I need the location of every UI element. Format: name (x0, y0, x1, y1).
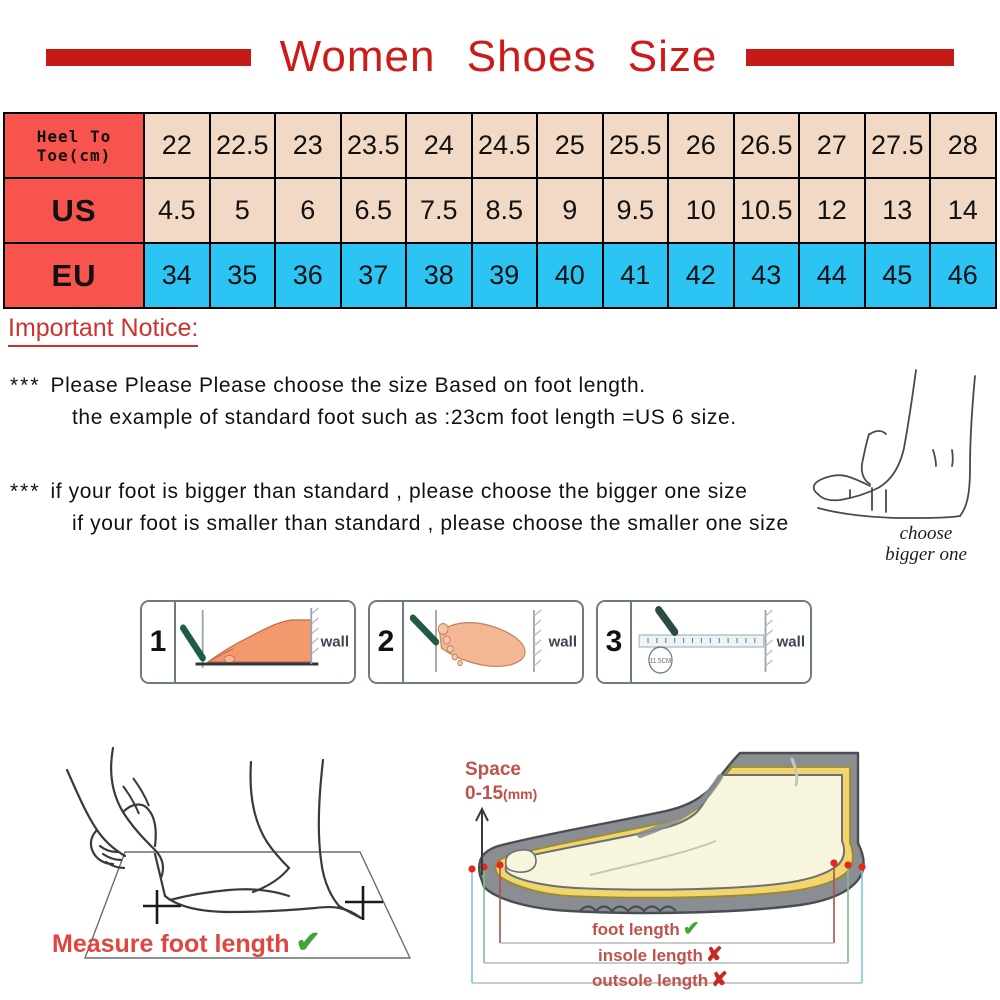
title-rule-left (46, 49, 251, 66)
foot-length-check-icon: ✔ (683, 918, 700, 940)
cell-us-1: 5 (210, 178, 276, 243)
space-label: Space 0-15(mm) (465, 758, 537, 806)
cell-us-12: 14 (930, 178, 996, 243)
size-conversion-table: Heel To Toe(cm) 22 22.5 23 23.5 24 24.5 … (3, 112, 997, 309)
cell-eu-7: 41 (603, 243, 669, 308)
space-value: 0-15 (465, 783, 503, 804)
cell-cm-3: 23.5 (341, 113, 407, 178)
step-3-ruler-badge: 11.5CM (650, 658, 671, 665)
cell-eu-5: 39 (472, 243, 538, 308)
table-row-heel-to-toe: Heel To Toe(cm) 22 22.5 23 23.5 24 24.5 … (4, 113, 996, 178)
cell-cm-1: 22.5 (210, 113, 276, 178)
cell-us-5: 8.5 (472, 178, 538, 243)
cell-cm-5: 24.5 (472, 113, 538, 178)
cell-cm-0: 22 (144, 113, 210, 178)
cell-eu-4: 38 (406, 243, 472, 308)
cell-eu-11: 45 (865, 243, 931, 308)
space-label-line-2: 0-15(mm) (465, 782, 537, 806)
notice-text-2a: if your foot is bigger than standard , p… (51, 480, 748, 503)
page-title-bar: Women Shoes Size (0, 26, 1000, 88)
cell-eu-12: 46 (930, 243, 996, 308)
cell-eu-0: 34 (144, 243, 210, 308)
notice-block-2-line-1: ***if your foot is bigger than standard … (10, 476, 789, 508)
step-1-number: 1 (142, 602, 176, 682)
length-label-insole-text: insole length (598, 946, 703, 965)
length-label-foot-text: foot length (592, 920, 680, 939)
step-2-number: 2 (370, 602, 404, 682)
title-rule-right (746, 49, 954, 66)
cell-us-8: 10 (668, 178, 734, 243)
table-row-us: US 4.5 5 6 6.5 7.5 8.5 9 9.5 10 10.5 12 … (4, 178, 996, 243)
cell-us-9: 10.5 (734, 178, 800, 243)
cell-cm-7: 25.5 (603, 113, 669, 178)
table-row-eu: EU 34 35 36 37 38 39 40 41 42 43 44 45 4… (4, 243, 996, 308)
cell-cm-8: 26 (668, 113, 734, 178)
cell-us-6: 9 (537, 178, 603, 243)
measurement-steps: 1 wall (140, 600, 812, 684)
step-2-illustration: wall (404, 602, 582, 682)
length-label-outsole: outsole length✘ (592, 968, 728, 994)
cell-cm-9: 26.5 (734, 113, 800, 178)
cell-eu-9: 43 (734, 243, 800, 308)
foot-sketch-caption-line-2: bigger one (846, 544, 1000, 565)
cell-us-3: 6.5 (341, 178, 407, 243)
cell-cm-11: 27.5 (865, 113, 931, 178)
cell-us-0: 4.5 (144, 178, 210, 243)
foot-sketch-caption: choose bigger one (846, 523, 1000, 566)
cell-cm-12: 28 (930, 113, 996, 178)
step-2: 2 wall (368, 600, 584, 684)
notice-block-1-line-1: ***Please Please Please choose the size … (10, 370, 737, 402)
step-2-wall-label: wall (549, 634, 577, 651)
measure-check-icon: ✔ (296, 926, 321, 959)
cell-eu-10: 44 (799, 243, 865, 308)
page-title: Women Shoes Size (271, 32, 727, 82)
space-unit: (mm) (503, 786, 537, 802)
title-word-2: Shoes (467, 32, 597, 81)
length-label-insole: insole length✘ (592, 943, 728, 969)
size-chart-page: Women Shoes Size Heel To Toe(cm) 22 22.5… (0, 0, 1000, 1000)
cell-us-7: 9.5 (603, 178, 669, 243)
step-3: 3 11.5CM (596, 600, 812, 684)
outsole-length-cross-icon: ✘ (711, 969, 728, 991)
cell-eu-1: 35 (210, 243, 276, 308)
notice-stars-2: *** (10, 480, 41, 503)
cell-eu-6: 40 (537, 243, 603, 308)
row-label-us: US (4, 178, 144, 243)
space-label-line-1: Space (465, 758, 537, 782)
foot-sketch-caption-line-1: choose (846, 523, 1000, 544)
step-1-illustration: wall (176, 602, 354, 682)
length-label-outsole-text: outsole length (592, 971, 708, 990)
cell-eu-2: 36 (275, 243, 341, 308)
length-labels: foot length✔ insole length✘ outsole leng… (592, 917, 728, 994)
step-1-wall-label: wall (321, 634, 349, 651)
cell-cm-10: 27 (799, 113, 865, 178)
cell-cm-6: 25 (537, 113, 603, 178)
step-3-wall-label: wall (777, 634, 805, 651)
row-label-eu: EU (4, 243, 144, 308)
step-3-illustration: 11.5CM wall (632, 602, 810, 682)
cell-eu-3: 37 (341, 243, 407, 308)
title-word-1: Women (280, 32, 436, 81)
insole-length-cross-icon: ✘ (706, 944, 723, 966)
row-label-heel-to-toe: Heel To Toe(cm) (4, 113, 144, 178)
measure-foot-caption-text: Measure foot length (52, 930, 290, 958)
measure-foot-caption: Measure foot length✔ (52, 925, 321, 960)
cell-cm-4: 24 (406, 113, 472, 178)
cell-us-10: 12 (799, 178, 865, 243)
notice-block-1: ***Please Please Please choose the size … (10, 370, 737, 434)
notice-text-1a: Please Please Please choose the size Bas… (51, 374, 646, 397)
important-notice-heading: Important Notice: (8, 314, 198, 347)
notice-stars-1: *** (10, 374, 41, 397)
notice-block-2-line-2: if your foot is smaller than standard , … (10, 508, 789, 540)
notice-block-1-line-2: the example of standard foot such as :23… (10, 402, 737, 434)
cell-us-2: 6 (275, 178, 341, 243)
step-3-number: 3 (598, 602, 632, 682)
cell-us-11: 13 (865, 178, 931, 243)
cell-us-4: 7.5 (406, 178, 472, 243)
cell-eu-8: 42 (668, 243, 734, 308)
title-word-3: Size (628, 32, 718, 81)
notice-block-2: ***if your foot is bigger than standard … (10, 476, 789, 540)
length-label-foot: foot length✔ (592, 917, 728, 943)
step-1: 1 wall (140, 600, 356, 684)
cell-cm-2: 23 (275, 113, 341, 178)
